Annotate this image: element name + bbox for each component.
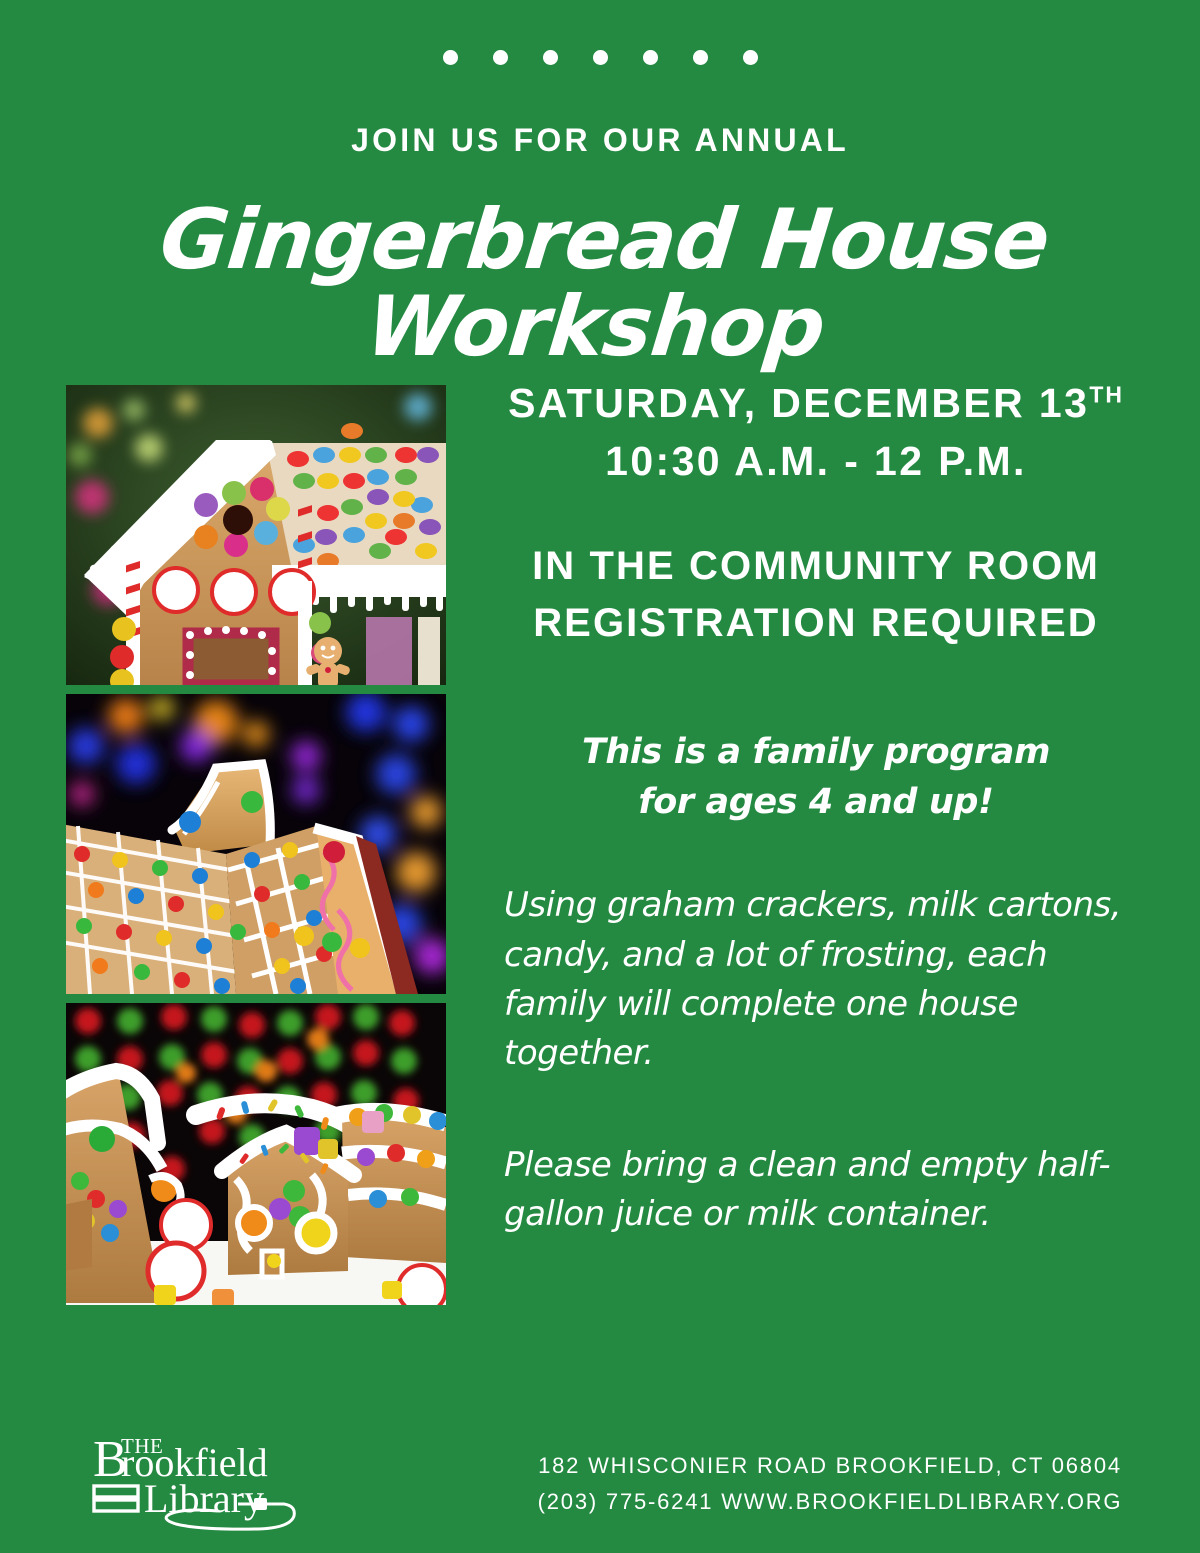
- event-location-line: IN THE COMMUNITY ROOM: [466, 538, 1166, 595]
- divider-dot: [693, 50, 708, 65]
- family-program-note: This is a family program for ages 4 and …: [466, 728, 1166, 827]
- family-note-line-2: for ages 4 and up!: [466, 778, 1166, 828]
- logo-library-text: Library: [144, 1476, 264, 1521]
- event-date-text: SATURDAY, DECEMBER 13: [508, 380, 1089, 426]
- event-location-block: IN THE COMMUNITY ROOM REGISTRATION REQUI…: [466, 538, 1166, 652]
- family-note-line-1: This is a family program: [466, 728, 1166, 778]
- description-paragraph-2: Please bring a clean and empty half-gall…: [504, 1141, 1152, 1240]
- divider-dot: [443, 50, 458, 65]
- phone-website-line: (203) 775-6241 WWW.BROOKFIELDLIBRARY.ORG: [500, 1484, 1160, 1520]
- event-registration-line: REGISTRATION REQUIRED: [466, 595, 1166, 652]
- address-line: 182 WHISCONIER ROAD BROOKFIELD, CT 06804: [500, 1448, 1160, 1484]
- description-paragraph-1: Using graham crackers, milk cartons, can…: [504, 881, 1152, 1078]
- event-datetime: SATURDAY, DECEMBER 13TH 10:30 A.M. - 12 …: [466, 374, 1166, 490]
- library-contact-info: 182 WHISCONIER ROAD BROOKFIELD, CT 06804…: [500, 1448, 1160, 1519]
- dot-divider: [0, 50, 1200, 65]
- photo-gingerbread-village-snow: [66, 1003, 446, 1305]
- event-date-ordinal: TH: [1089, 381, 1124, 407]
- divider-dot: [493, 50, 508, 65]
- photo-gingerbread-house-candy-roof: [66, 385, 446, 685]
- event-date-line: SATURDAY, DECEMBER 13TH: [466, 374, 1166, 432]
- divider-dot: [743, 50, 758, 65]
- divider-dot: [643, 50, 658, 65]
- event-details-column: SATURDAY, DECEMBER 13TH 10:30 A.M. - 12 …: [466, 374, 1166, 1239]
- event-time-line: 10:30 A.M. - 12 P.M.: [466, 432, 1166, 490]
- divider-dot: [593, 50, 608, 65]
- page-title: Gingerbread House Workshop: [0, 196, 1200, 370]
- brookfield-library-logo: B THE rookfield Library: [88, 1428, 318, 1532]
- photo-gingerbread-house-bokeh-lights: [66, 694, 446, 994]
- books-stack-icon: [94, 1486, 138, 1511]
- kicker-text: JOIN US FOR OUR ANNUAL: [0, 122, 1200, 159]
- divider-dot: [543, 50, 558, 65]
